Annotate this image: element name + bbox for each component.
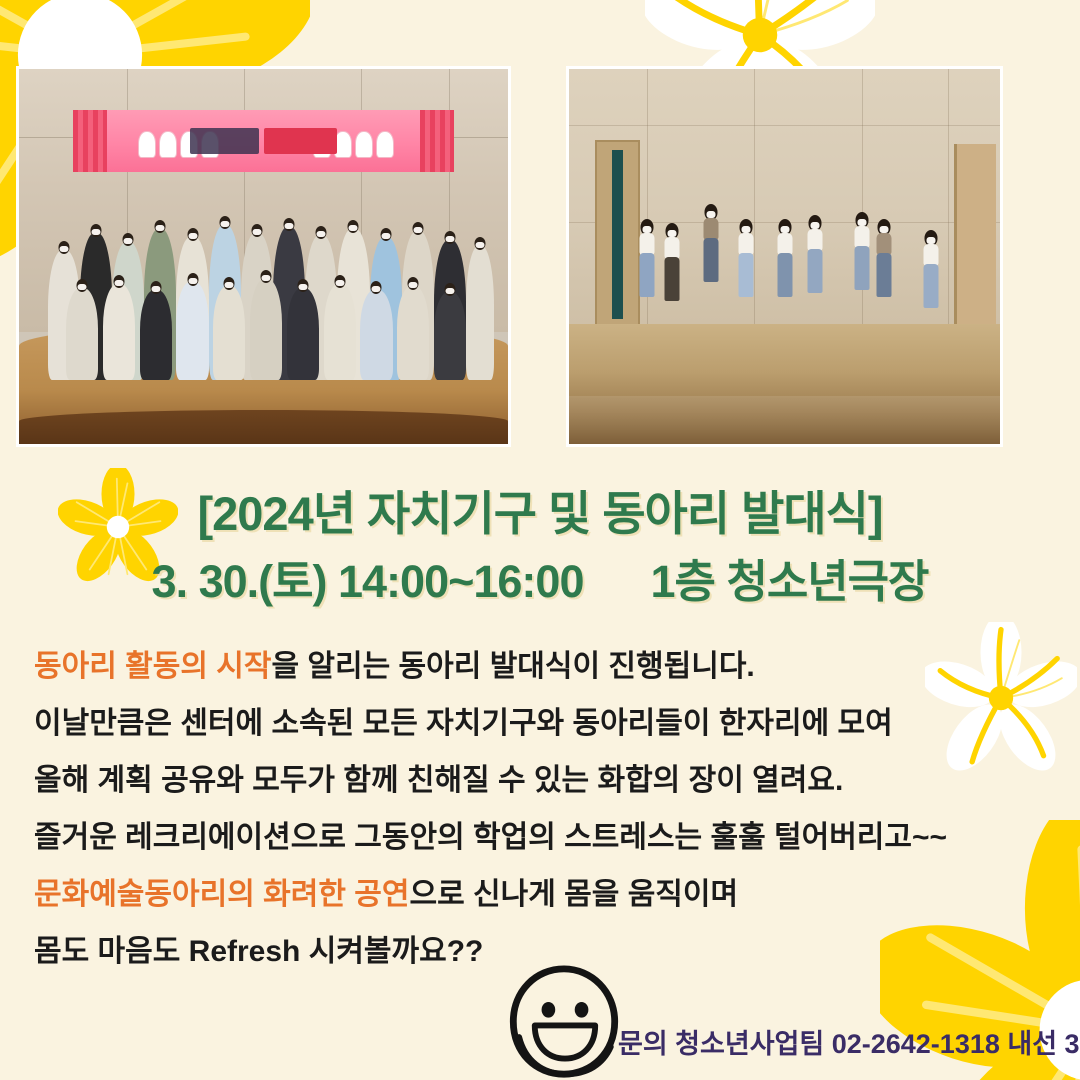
body-line-5-highlight: 문화예술동아리의 화려한 공연 [34, 878, 409, 911]
event-date-time: 3. 30.(토) 14:00~16:00 [152, 556, 584, 607]
event-datetime-place: 3. 30.(토) 14:00~16:00 1층 청소년극장 [0, 559, 1080, 604]
body-line-5: 문화예술동아리의 화려한 공연으로 신나게 몸을 움직이며 [34, 880, 1056, 910]
body-line-5-rest: 으로 신나게 몸을 움직이며 [409, 878, 738, 911]
smiley-face-icon [505, 963, 623, 1080]
body-line-3: 올해 계획 공유와 모두가 함께 친해질 수 있는 화합의 장이 열려요. [34, 766, 1056, 796]
body-text-block: 동아리 활동의 시작을 알리는 동아리 발대식이 진행됩니다. 이날만큼은 센터… [34, 652, 1056, 994]
body-line-2: 이날만큼은 센터에 소속된 모든 자치기구와 동아리들이 한자리에 모여 [34, 709, 1056, 739]
event-title: [2024년 자치기구 및 동아리 발대식] [0, 490, 1080, 537]
title-block: [2024년 자치기구 및 동아리 발대식] 3. 30.(토) 14:00~1… [0, 490, 1080, 604]
contact-info: 문의 청소년사업팀 02-2642-1318 내선 3 [618, 1022, 1080, 1061]
stage-banner [73, 110, 454, 172]
dance-photo-right [566, 66, 1003, 447]
body-line-4: 즐거운 레크리에이션으로 그동안의 학업의 스트레스는 훌훌 털어버리고~~ [34, 823, 1056, 853]
event-place: 1층 청소년극장 [651, 556, 929, 607]
crowd-figures [39, 170, 499, 380]
event-poster: [2024년 자치기구 및 동아리 발대식] 3. 30.(토) 14:00~1… [0, 0, 1080, 1080]
group-photo-left [16, 66, 511, 447]
body-line-1: 동아리 활동의 시작을 알리는 동아리 발대식이 진행됩니다. [34, 652, 1056, 682]
body-line-1-rest: 을 알리는 동아리 발대식이 진행됩니다. [271, 650, 754, 683]
body-line-1-highlight: 동아리 활동의 시작 [34, 650, 271, 683]
